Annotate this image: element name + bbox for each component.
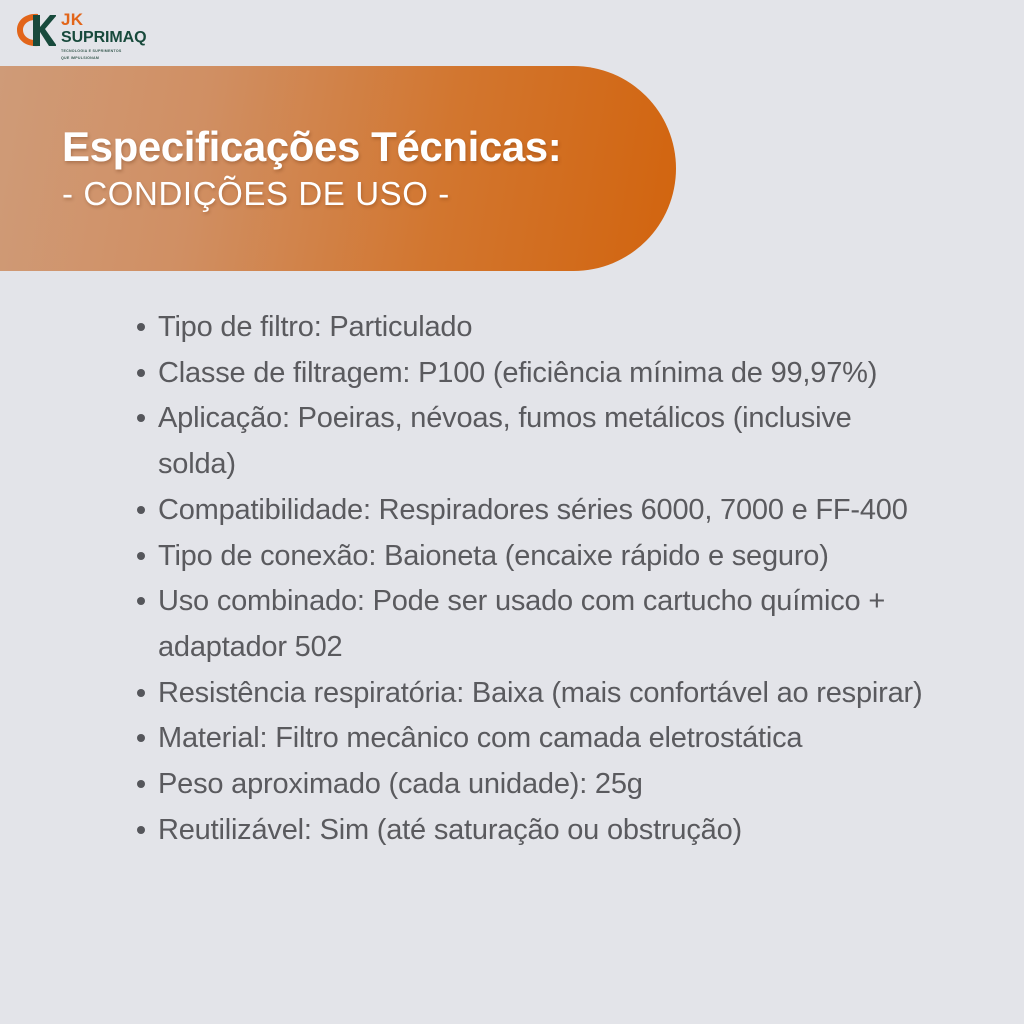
bullet-icon	[137, 597, 145, 605]
list-item-label: Tipo de filtro: Particulado	[158, 311, 472, 343]
page-subtitle: - CONDIÇÕES DE USO -	[62, 177, 676, 212]
list-item-label: Aplicação: Poeiras, névoas, fumos metáli…	[158, 402, 852, 480]
logo-bar: JK SUPRIMAQ TECNOLOGIA E SUPRIMENTOS QUE…	[0, 0, 1024, 66]
list-item: Resistência respiratória: Baixa (mais co…	[137, 671, 937, 717]
list-item-label: Uso combinado: Pode ser usado com cartuc…	[158, 585, 885, 663]
brand-name-suprimaq: SUPRIMAQ	[61, 29, 146, 47]
list-item-label: Resistência respiratória: Baixa (mais co…	[158, 677, 922, 709]
bullet-icon	[137, 323, 145, 331]
list-item-label: Material: Filtro mecânico com camada ele…	[158, 722, 802, 754]
list-item: Material: Filtro mecânico com camada ele…	[137, 716, 937, 762]
brand-tagline-line2: QUE IMPULSIONAM	[61, 56, 146, 61]
list-item-label: Classe de filtragem: P100 (eficiência mí…	[158, 357, 877, 389]
specification-list: Tipo de filtro: Particulado Classe de fi…	[137, 305, 937, 853]
bullet-icon	[137, 506, 145, 514]
list-item: Uso combinado: Pode ser usado com cartuc…	[137, 579, 937, 670]
jk-monogram-icon	[14, 10, 56, 50]
brand-name-jk: JK	[61, 11, 146, 28]
page-title: Especificações Técnicas:	[62, 125, 676, 169]
list-item: Tipo de conexão: Baioneta (encaixe rápid…	[137, 534, 937, 580]
bullet-icon	[137, 369, 145, 377]
bullet-icon	[137, 734, 145, 742]
list-item: Aplicação: Poeiras, névoas, fumos metáli…	[137, 396, 937, 487]
bullet-icon	[137, 689, 145, 697]
list-item-label: Peso aproximado (cada unidade): 25g	[158, 768, 643, 800]
brand-wordmark: JK SUPRIMAQ TECNOLOGIA E SUPRIMENTOS QUE…	[61, 10, 146, 61]
bullet-icon	[137, 826, 145, 834]
list-item-label: Compatibilidade: Respiradores séries 600…	[158, 494, 908, 526]
list-item-label: Reutilizável: Sim (até saturação ou obst…	[158, 814, 742, 846]
bullet-icon	[137, 414, 145, 422]
list-item: Peso aproximado (cada unidade): 25g	[137, 762, 937, 808]
list-item: Classe de filtragem: P100 (eficiência mí…	[137, 351, 937, 397]
brand-tagline-line1: TECNOLOGIA E SUPRIMENTOS	[61, 49, 146, 54]
list-item: Compatibilidade: Respiradores séries 600…	[137, 488, 937, 534]
bullet-icon	[137, 780, 145, 788]
bullet-icon	[137, 552, 145, 560]
header-banner: Especificações Técnicas: - CONDIÇÕES DE …	[0, 66, 676, 271]
list-item-label: Tipo de conexão: Baioneta (encaixe rápid…	[158, 540, 829, 572]
list-item: Reutilizável: Sim (até saturação ou obst…	[137, 808, 937, 854]
brand-logo[interactable]: JK SUPRIMAQ TECNOLOGIA E SUPRIMENTOS QUE…	[14, 10, 146, 61]
list-item: Tipo de filtro: Particulado	[137, 305, 937, 351]
